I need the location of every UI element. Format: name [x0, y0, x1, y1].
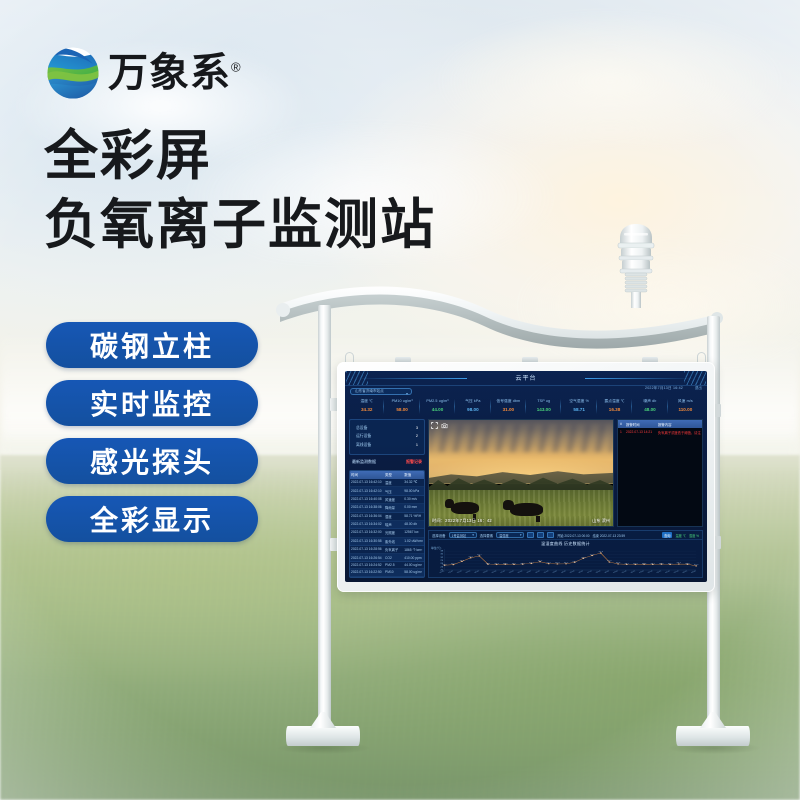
table-cell: 2022-07-13 16:24:52	[350, 563, 384, 567]
table-row[interactable]: 2022-07-13 16:20:48土壤温度22.80 ℃	[350, 577, 424, 579]
metric-card: 信号强度 dbm 31.00	[491, 397, 526, 417]
svg-text:04:00: 04:00	[474, 571, 480, 574]
metric-card: TSP ug 143.00	[526, 397, 561, 417]
svg-text:11:00: 11:00	[535, 571, 541, 574]
svg-text:17:00: 17:00	[587, 571, 593, 574]
metric-value: 16.38	[597, 405, 632, 414]
column-header-value: 数值	[403, 473, 424, 478]
svg-text:23:00: 23:00	[639, 571, 645, 574]
left-column: 总设备 3 运行设备 2 离线设备 1 最新监测数据	[349, 419, 425, 578]
svg-text:23: 23	[440, 567, 444, 568]
metric-label: PM10 ug/m³	[384, 397, 419, 405]
table-cell: CO2	[384, 556, 403, 560]
table-row[interactable]: 2022-07-13 16:24:52PM2.544.00 ug/m³	[350, 562, 424, 569]
table-cell: 44.00 ug/m³	[403, 563, 424, 567]
svg-text:13:00: 13:00	[552, 571, 558, 574]
table-cell: 58.71 %RH	[403, 514, 424, 519]
svg-text:23.9: 23.9	[694, 564, 699, 565]
latest-data-table[interactable]: 时间 类型 数值 2022-07-13 16:42:10温度34.32 ℃202…	[349, 470, 425, 578]
table-cell: 2022-07-13 16:42:10	[350, 489, 384, 494]
svg-text:09:00: 09:00	[518, 571, 524, 574]
chevron-down-icon: ▾	[406, 391, 408, 396]
table-cell: 2022-07-13 16:42:10	[350, 480, 384, 485]
metric-label: 露点温度 ℃	[597, 397, 632, 405]
svg-text:21:00: 21:00	[622, 571, 628, 574]
svg-text:06:00: 06:00	[491, 571, 497, 574]
device-select[interactable]: 1号监测站 ▾	[449, 532, 477, 538]
metric-value: 143.00	[526, 405, 561, 414]
table-cell: 气压	[384, 489, 403, 494]
alarm-header-row: # 报警时间 报警内容	[618, 420, 702, 428]
svg-text:03:00: 03:00	[465, 571, 471, 574]
svg-text:31.2: 31.2	[581, 557, 586, 558]
metric-value: 44.00	[420, 405, 455, 414]
table-cell: 2022-07-13 16:32:00	[350, 530, 384, 535]
device-stats-panel: 总设备 3 运行设备 2 离线设备 1	[349, 419, 425, 455]
metric-label: TSP ug	[526, 397, 561, 405]
device-select-value: 1号监测站	[452, 533, 467, 538]
video-and-alarm-row: 时间：2022年7月13日 16：42 山东 滨州 # 报警时间 报警内容 1	[428, 419, 703, 527]
table-row[interactable]: 2022-07-13 16:22:50PM1058.00 ug/m³	[350, 569, 424, 576]
metric-card: PM2.5 ug/m³ 44.00	[420, 397, 455, 417]
svg-text:25.4: 25.4	[624, 563, 629, 564]
table-cell: 光照度	[384, 530, 403, 535]
table-cell: 1865 个/cm³	[403, 547, 424, 552]
video-scene	[429, 420, 613, 526]
alarm-content: 负氧离子浓度低于阈值，请注意查看	[656, 430, 701, 435]
svg-text:25.6: 25.6	[520, 563, 525, 564]
metric-label: 气压 kPa	[455, 397, 490, 405]
cloud-band	[429, 424, 613, 452]
svg-text:25.6: 25.6	[659, 563, 664, 564]
table-row[interactable]: 2022-07-13 16:34:02噪声48.00 db	[350, 521, 424, 529]
svg-text:27.4: 27.4	[572, 561, 577, 562]
outdoor-display-enclosure: 云平台 山东省济南市站点 ▾ 2022年7月13日 16:42 退出 温度 ℃ …	[337, 362, 715, 592]
table-cell: 12567 lux	[403, 530, 424, 535]
header-datetime: 2022年7月13日 16:42	[645, 386, 683, 391]
svg-text:04:00: 04:00	[682, 571, 688, 574]
table-cell: 2022-07-13 16:30:58	[350, 539, 384, 544]
video-timestamp: 时间：2022年7月13日 16：42	[432, 518, 492, 524]
dashboard-header: 云平台	[345, 371, 707, 386]
stat-value: 2	[416, 434, 418, 439]
alarm-panel[interactable]: # 报警时间 报警内容 1 2022-07-13 14:21 负氧离子浓度低于阈…	[617, 419, 703, 527]
table-cell: PM2.5	[384, 563, 403, 567]
svg-text:25.8: 25.8	[555, 562, 560, 563]
factor-select-value: 温湿度	[499, 533, 509, 538]
data-table-heading-bar: 最新监测数据 报警记录	[349, 458, 425, 467]
table-row[interactable]: 2022-07-13 16:26:54CO2410.00 ppm	[350, 554, 424, 561]
svg-text:16:00: 16:00	[578, 571, 584, 574]
table-row[interactable]: 2022-07-13 16:42:10温度34.32 ℃	[350, 479, 424, 487]
alarm-time: 2022-07-13 14:21	[624, 430, 656, 435]
live-video-feed[interactable]: 时间：2022年7月13日 16：42 山东 滨州	[428, 419, 614, 527]
svg-text:01:00: 01:00	[656, 571, 662, 574]
svg-text:24.6: 24.6	[442, 564, 447, 565]
monitoring-station-product: 云平台 山东省济南市站点 ▾ 2022年7月13日 16:42 退出 温度 ℃ …	[0, 0, 800, 800]
svg-text:27.6: 27.6	[607, 561, 612, 562]
metric-card: 空气湿度 % 58.71	[561, 397, 596, 417]
svg-text:10:00: 10:00	[526, 571, 532, 574]
table-cell: 负氧离子	[384, 547, 403, 552]
metric-card: 露点温度 ℃ 16.38	[597, 397, 632, 417]
table-cell: 410.00 ppm	[403, 556, 424, 560]
svg-text:26.3: 26.3	[529, 562, 534, 563]
stat-row: 离线设备 1	[356, 443, 418, 448]
station-select[interactable]: 山东省济南市站点 ▾	[350, 388, 412, 395]
view-table-button[interactable]	[527, 532, 534, 538]
table-cell: 58.00 ug/m³	[403, 570, 424, 574]
cattle	[451, 502, 479, 515]
column-header-type: 类型	[384, 473, 403, 478]
device-select-label: 选择设备	[432, 533, 446, 538]
table-cell: 1.02 uW/cm²	[403, 539, 424, 544]
svg-text:05:00: 05:00	[691, 571, 697, 574]
end-date-picker[interactable]: 结束 2022-07-13 23:59	[593, 533, 625, 538]
table-cell: 2022-07-13 16:22:50	[350, 570, 384, 574]
svg-text:33.8: 33.8	[590, 554, 595, 555]
metric-value: 34.32	[349, 405, 384, 414]
svg-text:33.4: 33.4	[477, 554, 482, 555]
metric-value: 58.00	[384, 405, 419, 414]
svg-text:27.9: 27.9	[538, 560, 543, 561]
cattle	[510, 503, 543, 517]
metric-label: 空气湿度 %	[561, 397, 596, 405]
chart-plot-area: 单位(℃) 2023262932353824.600:0025.101:0028…	[429, 546, 702, 577]
svg-text:28.2: 28.2	[460, 560, 465, 561]
video-controls[interactable]	[431, 422, 448, 429]
stat-row: 总设备 3	[356, 426, 418, 431]
alarm-records-link[interactable]: 报警记录	[406, 459, 422, 465]
svg-text:38: 38	[440, 551, 444, 552]
chevron-down-icon: ▾	[472, 533, 474, 537]
svg-text:25.4: 25.4	[512, 563, 517, 564]
metric-value: 98.00	[455, 405, 490, 414]
carbon-steel-post-left	[318, 305, 331, 730]
chevron-down-icon: ▾	[520, 533, 522, 537]
metric-card: 气压 kPa 98.00	[455, 397, 490, 417]
metric-value: 58.71	[561, 405, 596, 414]
table-cell: 2022-07-13 16:38:06	[350, 505, 384, 510]
table-row[interactable]: 2022-07-13 16:36:04湿度58.71 %RH	[350, 513, 424, 521]
svg-text:25.5: 25.5	[503, 563, 508, 564]
table-cell: 2022-07-13 16:40:08	[350, 497, 384, 502]
history-chart-panel: 选择设备 1号监测站 ▾ 选择要素 温湿度 ▾	[428, 530, 703, 578]
expand-icon[interactable]	[431, 422, 438, 429]
metric-card: 风速 m/s 110.00	[668, 397, 703, 417]
svg-text:19:00: 19:00	[604, 571, 610, 574]
table-row[interactable]: 2022-07-13 16:40:08风速度0.30 m/s	[350, 496, 424, 504]
dashboard-title: 云平台	[345, 373, 707, 382]
stat-value: 1	[416, 443, 418, 448]
svg-text:35: 35	[440, 554, 444, 555]
view-chart-button[interactable]	[537, 532, 544, 538]
svg-text:18:00: 18:00	[596, 571, 602, 574]
camera-icon[interactable]	[441, 422, 448, 429]
metric-label: 噪声 db	[632, 397, 667, 405]
ultrasonic-weather-sensor-icon	[608, 222, 664, 308]
alarm-column-time: 报警时间	[624, 422, 656, 427]
svg-text:25.1: 25.1	[451, 563, 456, 564]
svg-text:22:00: 22:00	[630, 571, 636, 574]
svg-text:01:00: 01:00	[448, 571, 454, 574]
metric-card: PM10 ug/m³ 58.00	[384, 397, 419, 417]
stat-label: 运行设备	[356, 434, 371, 439]
svg-text:14:00: 14:00	[561, 571, 567, 574]
table-cell: 2022-07-13 16:28:56	[350, 547, 384, 552]
station-select-value: 山东省济南市站点	[355, 389, 384, 394]
dashboard-body: 总设备 3 运行设备 2 离线设备 1 最新监测数据	[349, 419, 703, 578]
svg-text:00:00: 00:00	[648, 571, 654, 574]
legend-humidity: 湿度 %	[689, 533, 699, 538]
stat-label: 离线设备	[356, 443, 371, 448]
table-row[interactable]: 2022-07-13 16:30:58紫外线1.02 uW/cm²	[350, 538, 424, 546]
table-row[interactable]: 2022-07-13 16:32:00光照度12567 lux	[350, 529, 424, 537]
chart-unit-label: 单位(℃)	[431, 546, 441, 550]
factor-select-label: 选择要素	[480, 533, 494, 538]
factor-select[interactable]: 温湿度 ▾	[496, 532, 524, 538]
table-cell: PM10	[384, 570, 403, 574]
svg-text:25.5: 25.5	[685, 563, 690, 564]
query-button[interactable]: 查询	[662, 532, 672, 538]
svg-text:25.9: 25.9	[564, 562, 569, 563]
table-cell: 48.00 db	[403, 522, 424, 527]
table-cell: 降雨量	[384, 505, 403, 510]
metric-label: PM2.5 ug/m³	[420, 397, 455, 405]
metric-card: 噪声 db 48.00	[632, 397, 667, 417]
svg-text:08:00: 08:00	[509, 571, 515, 574]
table-row[interactable]: 2022-07-13 16:38:06降雨量0.00 mm	[350, 504, 424, 512]
table-cell: 98.00 kPa	[403, 489, 424, 494]
svg-text:15:00: 15:00	[570, 571, 576, 574]
svg-text:20:00: 20:00	[613, 571, 619, 574]
svg-text:02:00: 02:00	[457, 571, 463, 574]
table-cell: 34.32 ℃	[403, 480, 424, 485]
svg-text:07:00: 07:00	[500, 571, 506, 574]
svg-text:32: 32	[440, 557, 444, 558]
table-cell: 0.30 m/s	[403, 497, 424, 502]
table-body: 2022-07-13 16:42:10温度34.32 ℃2022-07-13 1…	[350, 479, 424, 578]
logout-button[interactable]: 退出	[695, 386, 702, 391]
main-column: 时间：2022年7月13日 16：42 山东 滨州 # 报警时间 报警内容 1	[428, 419, 703, 578]
data-table-heading: 最新监测数据	[352, 459, 376, 465]
export-button[interactable]	[547, 532, 554, 538]
base-plate-right	[676, 726, 750, 746]
svg-text:25.6: 25.6	[486, 563, 491, 564]
metric-value: 31.00	[491, 405, 526, 414]
svg-text:25.4: 25.4	[668, 563, 673, 564]
svg-text:03:00: 03:00	[674, 571, 680, 574]
svg-text:29: 29	[440, 560, 444, 561]
table-cell: 湿度	[384, 514, 403, 519]
svg-text:02:00: 02:00	[665, 571, 671, 574]
chart-toolbar: 选择设备 1号监测站 ▾ 选择要素 温湿度 ▾	[429, 531, 702, 540]
base-plate-left	[286, 726, 360, 746]
metric-label: 信号强度 dbm	[491, 397, 526, 405]
svg-text:05:00: 05:00	[483, 571, 489, 574]
svg-text:25.8: 25.8	[616, 562, 621, 563]
table-header-row: 时间 类型 数值	[350, 471, 424, 479]
table-cell: 温度	[384, 480, 403, 485]
svg-text:36.2: 36.2	[598, 552, 603, 553]
metric-value: 48.00	[632, 405, 667, 414]
line-chart: 2023262932353824.600:0025.101:0028.202:0…	[429, 546, 702, 577]
svg-text:25.3: 25.3	[494, 563, 499, 564]
table-cell: 风速度	[384, 497, 403, 502]
svg-text:25.4: 25.4	[651, 563, 656, 564]
dashboard-screen: 云平台 山东省济南市站点 ▾ 2022年7月13日 16:42 退出 温度 ℃ …	[345, 371, 707, 582]
svg-text:26.0: 26.0	[546, 562, 551, 563]
column-header-time: 时间	[350, 473, 384, 478]
svg-text:12:00: 12:00	[544, 571, 550, 574]
table-cell: 紫外线	[384, 539, 403, 544]
svg-text:25.5: 25.5	[642, 563, 647, 564]
table-cell: 2022-07-13 16:34:02	[350, 522, 384, 527]
legend-temperature: 温度 ℃	[675, 533, 685, 538]
table-cell: 2022-07-13 16:36:04	[350, 514, 384, 519]
table-row[interactable]: 2022-07-13 16:42:10气压98.00 kPa	[350, 487, 424, 495]
metric-card: 温度 ℃ 34.32	[349, 397, 384, 417]
stat-label: 总设备	[356, 426, 367, 431]
stat-row: 运行设备 2	[356, 434, 418, 439]
metric-label: 温度 ℃	[349, 397, 384, 405]
table-cell: 2022-07-13 16:26:54	[350, 556, 384, 560]
table-row[interactable]: 2022-07-13 16:28:56负氧离子1865 个/cm³	[350, 546, 424, 554]
video-location: 山东 滨州	[592, 518, 610, 524]
table-cell: 噪声	[384, 522, 403, 527]
svg-text:31.6: 31.6	[468, 556, 473, 557]
stat-value: 3	[416, 426, 418, 431]
metric-value: 110.00	[668, 405, 703, 414]
svg-text:25.3: 25.3	[633, 563, 638, 564]
metric-strip: 温度 ℃ 34.32 PM10 ug/m³ 58.00 PM2.5 ug/m³ …	[349, 397, 703, 417]
alarm-column-content: 报警内容	[656, 422, 701, 427]
metric-label: 风速 m/s	[668, 397, 703, 405]
start-date-picker[interactable]: 开始 2022-07-13 00:00	[557, 533, 589, 538]
table-cell: 0.00 mm	[403, 505, 424, 510]
svg-text:25.7: 25.7	[677, 563, 682, 564]
alarm-row: 1 2022-07-13 14:21 负氧离子浓度低于阈值，请注意查看	[618, 428, 702, 436]
